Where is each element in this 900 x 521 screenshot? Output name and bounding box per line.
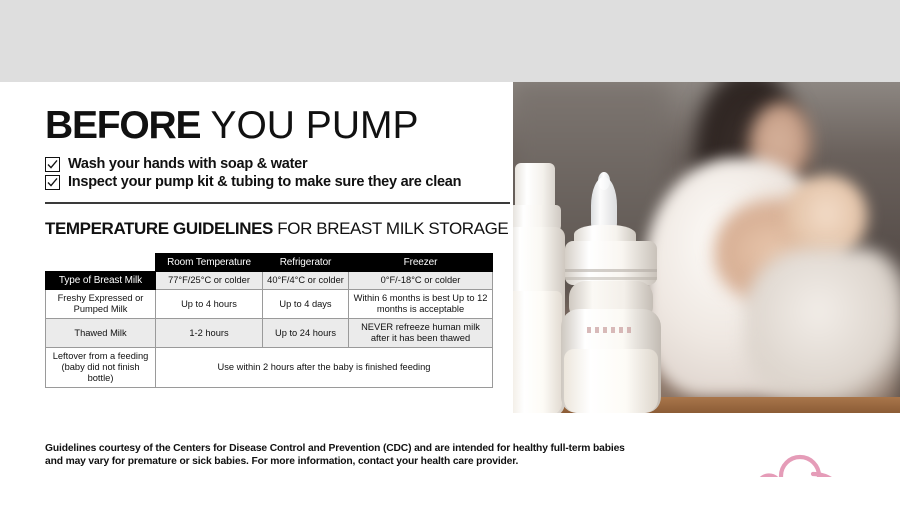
bottle-thread-ring <box>565 269 657 272</box>
section-title: TEMPERATURE GUIDELINES FOR BREAST MILK S… <box>45 219 515 239</box>
headline-bold: BEFORE <box>45 104 200 147</box>
checkbox-checked-icon <box>45 157 60 172</box>
checklist-item-label: Wash your hands with soap & water <box>68 157 307 172</box>
bottle-milk <box>513 291 562 413</box>
headline-light: YOU PUMP <box>200 104 418 147</box>
table-header-row: Room Temperature Refrigerator Freezer <box>46 254 493 272</box>
row-label-type-of-breast-milk: Type of Breast Milk <box>46 272 156 290</box>
page-title: BEFORE YOU PUMP <box>45 104 515 148</box>
checklist-item: Inspect your pump kit & tubing to make s… <box>45 175 515 190</box>
flyer-page: BEFORE YOU PUMP Wash your hands with soa… <box>0 0 900 521</box>
section-title-bold: TEMPERATURE GUIDELINES <box>45 219 273 238</box>
row-label-freshly-expressed: Freshy Expressed or Pumped Milk <box>46 290 156 319</box>
section-divider <box>45 202 510 204</box>
table-header-room-temperature: Room Temperature <box>156 254 263 272</box>
cell-room-freshly-expressed: Up to 4 hours <box>156 290 263 319</box>
bottle-thread-ring <box>565 277 657 280</box>
cell-room-temp-value: 77°F/25°C or colder <box>156 272 263 290</box>
table-row: Thawed Milk 1-2 hours Up to 24 hours NEV… <box>46 319 493 348</box>
cell-fridge-temp-value: 40°F/4°C or colder <box>263 272 349 290</box>
photo-bottle-front <box>565 177 675 413</box>
top-gray-band <box>0 0 900 82</box>
hero-photo <box>513 82 900 413</box>
pump-checklist: Wash your hands with soap & water Inspec… <box>45 157 515 190</box>
cell-room-thawed-milk: 1-2 hours <box>156 319 263 348</box>
row-label-thawed-milk: Thawed Milk <box>46 319 156 348</box>
section-title-light: FOR BREAST MILK STORAGE <box>273 219 508 238</box>
content-column: BEFORE YOU PUMP Wash your hands with soa… <box>45 82 515 388</box>
cell-fridge-thawed-milk: Up to 24 hours <box>263 319 349 348</box>
photo-baby-blanket <box>745 248 900 407</box>
table-header-blank <box>46 254 156 272</box>
cell-leftover-feeding-note: Use within 2 hours after the baby is fin… <box>156 348 493 388</box>
table-row-temperatures: Type of Breast Milk 77°F/25°C or colder … <box>46 272 493 290</box>
table-row: Leftover from a feeding (baby did not fi… <box>46 348 493 388</box>
checklist-item-label: Inspect your pump kit & tubing to make s… <box>68 175 461 190</box>
cell-fridge-freshly-expressed: Up to 4 days <box>263 290 349 319</box>
cell-freezer-thawed-milk: NEVER refreeze human milk after it has b… <box>349 319 493 348</box>
flyer-card: BEFORE YOU PUMP Wash your hands with soa… <box>0 82 900 477</box>
cell-freezer-freshly-expressed: Within 6 months is best Up to 12 months … <box>349 290 493 319</box>
bottle-neck <box>515 163 555 211</box>
photo-bottle-back <box>513 163 567 413</box>
table-header-freezer: Freezer <box>349 254 493 272</box>
storage-guidelines-table: Room Temperature Refrigerator Freezer Ty… <box>45 253 493 388</box>
bottle-milk <box>564 349 658 413</box>
row-label-leftover-feeding: Leftover from a feeding (baby did not fi… <box>46 348 156 388</box>
table-header-refrigerator: Refrigerator <box>263 254 349 272</box>
momcube-bubbles-icon <box>741 454 861 477</box>
disclaimer-text: Guidelines courtesy of the Centers for D… <box>45 443 645 468</box>
bottle-measurement-scale <box>587 327 633 333</box>
cell-freezer-temp-value: 0°F/-18°C or colder <box>349 272 493 290</box>
logo-panel: momcube <box>697 452 900 477</box>
checkbox-checked-icon <box>45 175 60 190</box>
checklist-item: Wash your hands with soap & water <box>45 157 515 172</box>
table-row: Freshy Expressed or Pumped Milk Up to 4 … <box>46 290 493 319</box>
